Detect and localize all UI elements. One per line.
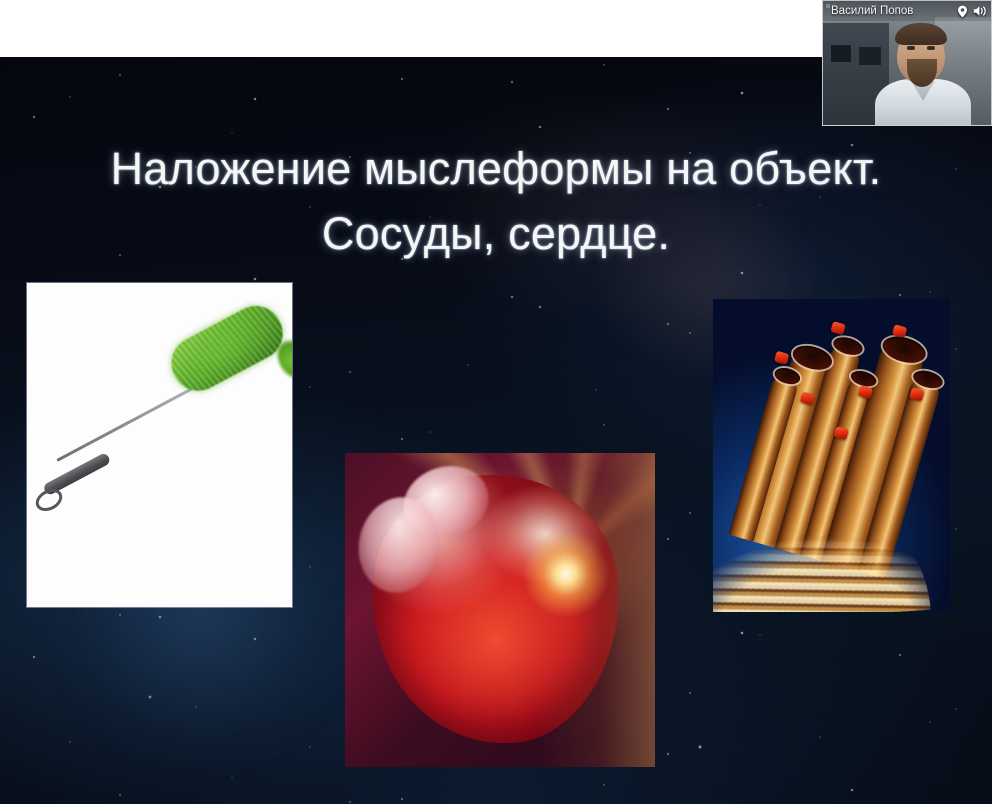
slide-image-human-heart	[345, 453, 655, 767]
webcam-person-eye	[907, 46, 915, 50]
webcam-name-bar: Василий Попов	[823, 1, 992, 21]
webcam-status-icons	[957, 5, 987, 18]
webcam-person-hair	[895, 23, 947, 45]
heart-light-flare	[523, 531, 609, 617]
webcam-person-eye	[927, 46, 935, 50]
pipe-red-cap	[830, 321, 846, 335]
slide-image-copper-pipes	[713, 299, 950, 612]
slide-title: Наложение мыслеформы на объект. Сосуды, …	[0, 145, 992, 258]
pipe-red-cap	[774, 351, 790, 365]
webcam-background-frame	[859, 47, 881, 65]
webcam-participant-tile[interactable]: Василий Попов	[822, 0, 992, 126]
webcam-participant-name: Василий Попов	[831, 5, 913, 17]
slide-title-line-1: Наложение мыслеформы на объект.	[0, 145, 992, 194]
brush-bristle-head	[162, 297, 292, 400]
slide-image-bottle-brush	[27, 283, 292, 607]
slide-title-line-2: Сосуды, сердце.	[0, 210, 992, 259]
speaker-icon[interactable]	[973, 5, 987, 17]
pin-icon[interactable]	[957, 5, 968, 18]
shared-slide[interactable]: Наложение мыслеформы на объект. Сосуды, …	[0, 57, 992, 804]
webcam-background-frame	[831, 45, 851, 62]
page-root: Наложение мыслеформы на объект. Сосуды, …	[0, 0, 992, 804]
